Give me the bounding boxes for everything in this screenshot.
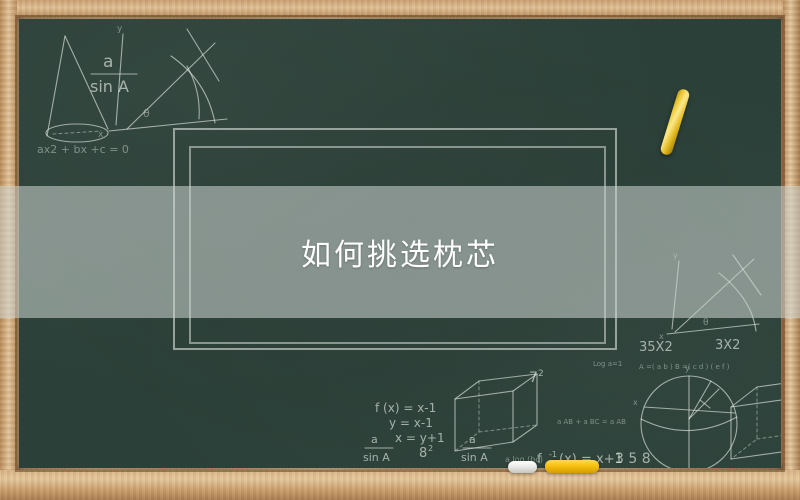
white-chalk-stick-on-ledge[interactable] [508,461,537,473]
page-title: 如何挑选枕芯 [0,186,800,318]
frame-top-rail [0,0,800,17]
screenshot-stage: a sin A ax2 + bx +c = 0 y x θ [0,0,800,500]
chalk-ledge [0,470,800,500]
addition-row-2: 2 7 9 [613,467,649,468]
yellow-chalk-stick-on-ledge[interactable] [545,460,599,473]
